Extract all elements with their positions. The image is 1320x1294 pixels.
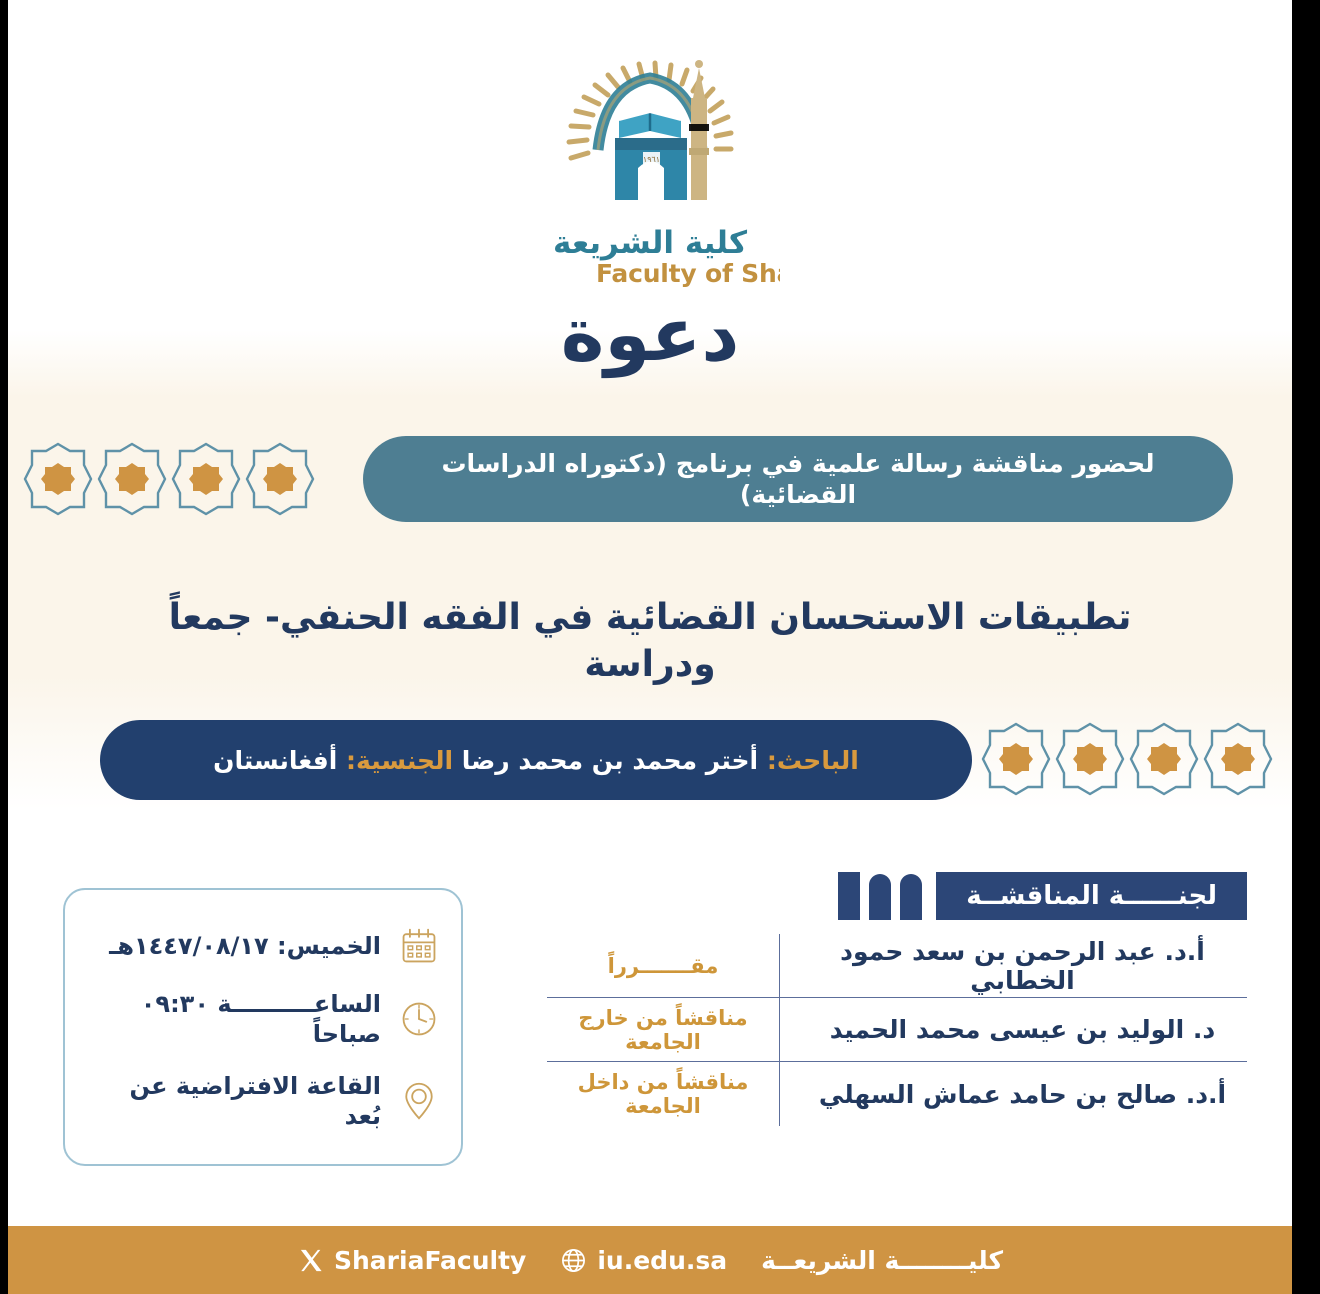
detail-row-date: الخميس: ١٤٤٧/٠٨/١٧هـ [85, 924, 441, 968]
eight-point-star-icon [244, 438, 316, 520]
member-name: د. الوليد بن عيسى محمد الحميد [779, 998, 1247, 1061]
table-row: أ.د. صالح بن حامد عماش السهلي مناقشاً من… [547, 1062, 1247, 1126]
svg-text:١٩٦١: ١٩٦١ [642, 155, 659, 164]
invitation-poster: ١٩٦١ كلية الشريعة Faculty of Sharia دعوة [8, 0, 1292, 1294]
footer-social-text: ShariaFaculty [334, 1246, 526, 1275]
footer-faculty-name: كليــــــــة الشريعــة [761, 1246, 1003, 1275]
member-role: مناقشاً من داخل الجامعة [547, 1070, 779, 1118]
logo-arabic-name: كلية الشريعة [520, 225, 780, 261]
eight-point-star-icon [1202, 718, 1274, 800]
location-pin-icon [397, 1079, 441, 1123]
researcher-name: أختر محمد بن محمد رضا [462, 746, 758, 775]
detail-row-place: القاعة الافتراضية عن بُعد [85, 1071, 441, 1131]
committee-table: أ.د. عبد الرحمن بن سعد حمود الخطابي مقــ… [547, 934, 1247, 1126]
x-twitter-icon [297, 1247, 324, 1274]
university-emblem-icon: ١٩٦١ [543, 38, 758, 223]
eight-point-star-icon [96, 438, 168, 520]
table-row: أ.د. عبد الرحمن بن سعد حمود الخطابي مقــ… [547, 934, 1247, 998]
thesis-title: تطبيقات الاستحسان القضائية في الفقه الحن… [8, 595, 1292, 689]
event-banner-text: لحضور مناقشة رسالة علمية في برنامج (دكتو… [363, 448, 1233, 511]
researcher-banner: الباحث: أختر محمد بن محمد رضا الجنسية: أ… [100, 720, 972, 800]
ornament-strip-left [22, 438, 316, 520]
clock-icon [397, 997, 441, 1041]
detail-row-time: الساعــــــــــة ٠٩:٣٠ صباحاً [85, 989, 441, 1049]
logo-english-name: Faculty of Sharia [590, 259, 780, 288]
calendar-icon [397, 924, 441, 968]
detail-date-text: الخميس: ١٤٤٧/٠٨/١٧هـ [85, 931, 381, 961]
eight-point-star-icon [170, 438, 242, 520]
event-banner: لحضور مناقشة رسالة علمية في برنامج (دكتو… [363, 436, 1233, 522]
nationality-label: الجنسية: [346, 746, 453, 775]
footer-website[interactable]: iu.edu.sa [560, 1246, 727, 1275]
eight-point-star-icon [22, 438, 94, 520]
footer-social[interactable]: ShariaFaculty [297, 1246, 526, 1275]
globe-icon [560, 1247, 587, 1274]
eight-point-star-icon [1128, 718, 1200, 800]
faculty-logo: ١٩٦١ كلية الشريعة Faculty of Sharia [520, 38, 780, 288]
eight-point-star-icon [1054, 718, 1126, 800]
researcher-label: الباحث: [767, 746, 859, 775]
footer-bar: كليــــــــة الشريعــة iu.edu.sa ShariaF… [8, 1226, 1292, 1294]
eight-point-star-icon [980, 718, 1052, 800]
header-decoration-bars [838, 872, 922, 920]
page-title: دعوة [8, 292, 1292, 378]
committee-section: لجنــــــة المناقشــة أ.د. عبد الرحمن بن… [547, 872, 1247, 1126]
member-name: أ.د. عبد الرحمن بن سعد حمود الخطابي [779, 934, 1247, 997]
ornament-strip-right [980, 718, 1274, 800]
footer-website-text: iu.edu.sa [597, 1246, 727, 1275]
committee-header: لجنــــــة المناقشــة [547, 872, 1247, 920]
detail-place-text: القاعة الافتراضية عن بُعد [85, 1071, 381, 1131]
committee-heading: لجنــــــة المناقشــة [936, 872, 1247, 920]
event-details-card: الخميس: ١٤٤٧/٠٨/١٧هـ الساعــــــــــة ٠٩… [63, 888, 463, 1166]
decoration-bar [900, 874, 922, 920]
decoration-bar [869, 874, 891, 920]
member-role: مناقشاً من خارج الجامعة [547, 1006, 779, 1054]
nationality-value: أفغانستان [213, 746, 337, 775]
decoration-bar [838, 872, 860, 920]
member-role: مقـــــــرراً [547, 954, 779, 978]
table-row: د. الوليد بن عيسى محمد الحميد مناقشاً من… [547, 998, 1247, 1062]
detail-time-text: الساعــــــــــة ٠٩:٣٠ صباحاً [85, 989, 381, 1049]
member-name: أ.د. صالح بن حامد عماش السهلي [779, 1062, 1247, 1126]
